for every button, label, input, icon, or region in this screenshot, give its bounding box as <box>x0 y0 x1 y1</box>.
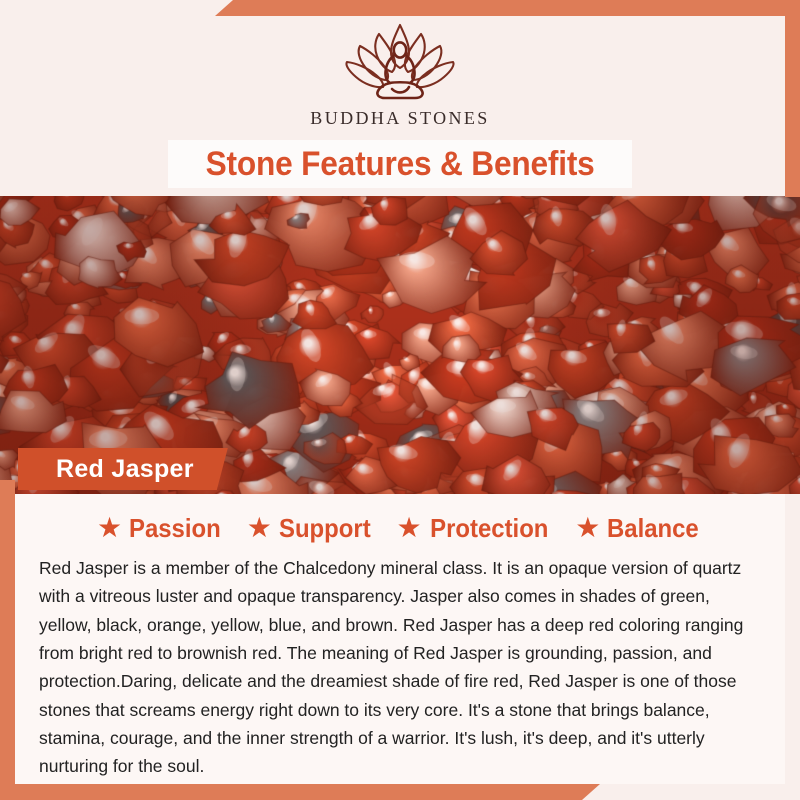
header-section: BUDDHA STONES Stone Features & Benefits <box>0 0 800 197</box>
frame-top-bar <box>215 0 800 16</box>
content-panel: ★ Passion ★ Support ★ Protection ★ Balan… <box>15 494 785 784</box>
brand-logo: BUDDHA STONES <box>0 22 800 129</box>
page-title-band: Stone Features & Benefits <box>168 140 632 188</box>
benefit-item: ★ Balance <box>575 513 703 544</box>
benefit-item: ★ Support <box>247 513 375 544</box>
benefit-label: Support <box>279 513 371 544</box>
star-icon: ★ <box>575 514 600 542</box>
benefit-label: Protection <box>430 513 548 544</box>
frame-bottom-filler <box>580 784 800 800</box>
star-icon: ★ <box>397 514 422 542</box>
stone-name-text: Red Jasper <box>56 455 194 484</box>
benefit-item: ★ Protection <box>397 513 554 544</box>
benefit-label: Balance <box>607 513 699 544</box>
star-icon: ★ <box>247 514 272 542</box>
frame-left-bar <box>0 480 15 800</box>
benefits-row: ★ Passion ★ Support ★ Protection ★ Balan… <box>15 494 785 544</box>
stone-description: Red Jasper is a member of the Chalcedony… <box>39 554 761 781</box>
benefit-label: Passion <box>129 513 221 544</box>
frame-bottom-bar <box>0 784 600 800</box>
frame-right-bar <box>785 0 800 197</box>
page-title: Stone Features & Benefits <box>206 145 595 184</box>
stone-name-banner: Red Jasper <box>18 448 228 490</box>
star-icon: ★ <box>97 514 122 542</box>
benefit-item: ★ Passion <box>97 513 225 544</box>
lotus-meditation-icon <box>341 22 459 104</box>
brand-name: BUDDHA STONES <box>310 108 489 129</box>
infographic-page: BUDDHA STONES Stone Features & Benefits … <box>0 0 800 800</box>
